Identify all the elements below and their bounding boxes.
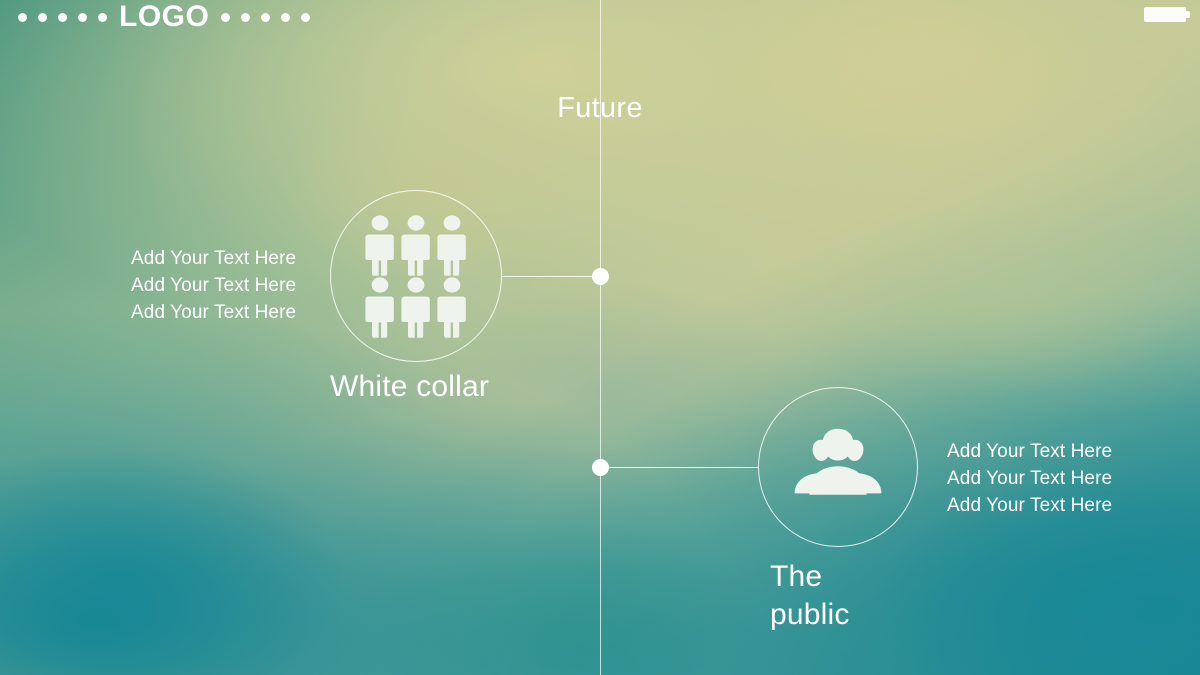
logo-dot: [261, 13, 270, 22]
battery-icon: [1144, 7, 1186, 22]
people-grid-icon: [364, 214, 468, 338]
logo-dot: [38, 13, 47, 22]
logo-dot: [241, 13, 250, 22]
logo-dot: [18, 13, 27, 22]
background-blob-teal-bottomleft: [0, 392, 432, 675]
logo-dot: [281, 13, 290, 22]
timeline-axis-label: Future: [0, 92, 1200, 125]
timeline-node-white-collar[interactable]: [592, 268, 609, 285]
people-group-icon: [784, 426, 892, 508]
background-blob-teal-bottomcenter: [288, 473, 840, 675]
timeline-node-the-public[interactable]: [592, 459, 609, 476]
text-line: Add Your Text Here: [947, 492, 1162, 519]
icon-circle-the-public[interactable]: [758, 387, 918, 547]
connector-line-the-public: [604, 467, 758, 468]
text-line: Add Your Text Here: [131, 245, 341, 272]
logo-text: LOGO: [119, 2, 209, 32]
slide-canvas: LOGO Future: [0, 0, 1200, 675]
text-line: Add Your Text Here: [131, 299, 341, 326]
text-line: Add Your Text Here: [131, 272, 341, 299]
item-title-the-public: The public: [770, 558, 1030, 635]
logo-dots-right: [221, 13, 310, 22]
logo-dot: [78, 13, 87, 22]
logo-dot: [58, 13, 67, 22]
text-line: Add Your Text Here: [947, 438, 1162, 465]
item-title-white-collar: White collar: [330, 368, 630, 406]
logo-dots-left: [18, 13, 107, 22]
text-block-white-collar: Add Your Text Here Add Your Text Here Ad…: [131, 245, 341, 326]
text-line: Add Your Text Here: [947, 465, 1162, 492]
icon-circle-white-collar[interactable]: [330, 190, 502, 362]
logo-dot: [221, 13, 230, 22]
logo-dot: [301, 13, 310, 22]
logo[interactable]: LOGO: [18, 2, 310, 32]
logo-dot: [98, 13, 107, 22]
text-block-the-public: Add Your Text Here Add Your Text Here Ad…: [947, 438, 1162, 519]
connector-line-white-collar: [502, 276, 596, 277]
